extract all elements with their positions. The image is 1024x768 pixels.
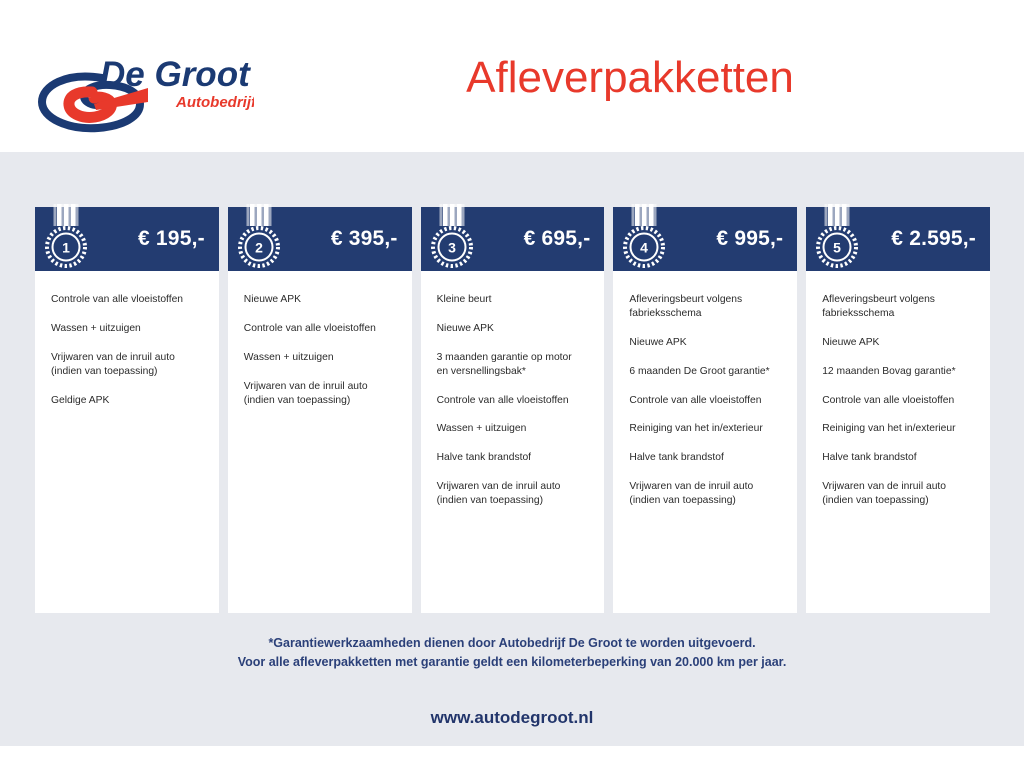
package-price: € 2.595,- (891, 227, 976, 251)
feature-item: Controle van alle vloeistoffen (822, 394, 974, 408)
de-groot-logo-icon: De Groot Autobedrijf (36, 48, 254, 134)
feature-item: Afleveringsbeurt volgensfabrieksschema (629, 293, 781, 321)
feature-item: 6 maanden De Groot garantie* (629, 365, 781, 379)
slide-root: De Groot Autobedrijf Afleverpakketten (0, 0, 1024, 768)
feature-item: Controle van alle vloeistoffen (244, 322, 396, 336)
footnote-line-1: *Garantiewerkzaamheden dienen door Autob… (0, 634, 1024, 653)
header-band: De Groot Autobedrijf Afleverpakketten (0, 0, 1024, 152)
medal-rank-icon: 2 (236, 204, 282, 270)
feature-item: Halve tank brandstof (629, 451, 781, 465)
package-card-header: 3 € 695,- (421, 207, 605, 271)
package-card-header: 1 € 195,- (35, 207, 219, 271)
medal-rank-number: 5 (833, 240, 841, 256)
package-feature-list: Kleine beurt Nieuwe APK 3 maanden garant… (421, 271, 605, 613)
website-url[interactable]: www.autodegroot.nl (0, 708, 1024, 728)
feature-item: 3 maanden garantie op motoren versnellin… (437, 351, 589, 379)
medal-rank-number: 1 (62, 240, 70, 256)
feature-item: Nieuwe APK (822, 336, 974, 350)
medal-rank-number: 3 (448, 240, 456, 256)
medal-rank-number: 4 (640, 240, 648, 256)
feature-item: 12 maanden Bovag garantie* (822, 365, 974, 379)
bottom-white-strip (0, 746, 1024, 768)
feature-item: Vrijwaren van de inruil auto(indien van … (51, 351, 203, 379)
package-card[interactable]: 1 € 195,- Controle van alle vloeistoffen… (35, 207, 219, 613)
svg-text:De Groot: De Groot (100, 55, 251, 94)
feature-item: Wassen + uitzuigen (244, 351, 396, 365)
feature-item: Controle van alle vloeistoffen (51, 293, 203, 307)
medal-rank-icon: 5 (814, 204, 860, 270)
medal-rank-icon: 1 (43, 204, 89, 270)
feature-item: Nieuwe APK (629, 336, 781, 350)
feature-item: Controle van alle vloeistoffen (629, 394, 781, 408)
feature-item: Kleine beurt (437, 293, 589, 307)
feature-item: Afleveringsbeurt volgensfabrieksschema (822, 293, 974, 321)
package-price: € 995,- (716, 227, 783, 251)
feature-item: Vrijwaren van de inruil auto(indien van … (629, 480, 781, 508)
feature-item: Nieuwe APK (437, 322, 589, 336)
package-feature-list: Nieuwe APK Controle van alle vloeistoffe… (228, 271, 412, 613)
package-card[interactable]: 4 € 995,- Afleveringsbeurt volgensfabrie… (613, 207, 797, 613)
medal-rank-icon: 3 (429, 204, 475, 270)
feature-item: Vrijwaren van de inruil auto(indien van … (244, 380, 396, 408)
svg-text:Autobedrijf: Autobedrijf (175, 94, 254, 111)
package-feature-list: Afleveringsbeurt volgensfabrieksschema N… (613, 271, 797, 613)
package-feature-list: Afleveringsbeurt volgensfabrieksschema N… (806, 271, 990, 613)
medal-rank-number: 2 (255, 240, 263, 256)
package-card-list: 1 € 195,- Controle van alle vloeistoffen… (35, 207, 990, 613)
package-card[interactable]: 5 € 2.595,- Afleveringsbeurt volgensfabr… (806, 207, 990, 613)
package-card[interactable]: 2 € 395,- Nieuwe APK Controle van alle v… (228, 207, 412, 613)
feature-item: Halve tank brandstof (822, 451, 974, 465)
feature-item: Vrijwaren van de inruil auto(indien van … (437, 480, 589, 508)
package-feature-list: Controle van alle vloeistoffen Wassen + … (35, 271, 219, 613)
feature-item: Reiniging van het in/exterieur (822, 422, 974, 436)
package-price: € 695,- (524, 227, 591, 251)
feature-item: Wassen + uitzuigen (437, 422, 589, 436)
feature-item: Vrijwaren van de inruil auto(indien van … (822, 480, 974, 508)
feature-item: Reiniging van het in/exterieur (629, 422, 781, 436)
feature-item: Geldige APK (51, 394, 203, 408)
feature-item: Controle van alle vloeistoffen (437, 394, 589, 408)
package-price: € 195,- (138, 227, 205, 251)
package-card-header: 5 € 2.595,- (806, 207, 990, 271)
feature-item: Nieuwe APK (244, 293, 396, 307)
medal-rank-icon: 4 (621, 204, 667, 270)
page-title: Afleverpakketten (330, 54, 930, 102)
feature-item: Wassen + uitzuigen (51, 322, 203, 336)
package-price: € 395,- (331, 227, 398, 251)
package-card-header: 2 € 395,- (228, 207, 412, 271)
footnote: *Garantiewerkzaamheden dienen door Autob… (0, 634, 1024, 673)
company-logo: De Groot Autobedrijf (36, 48, 254, 134)
footnote-line-2: Voor alle afleverpakketten met garantie … (0, 653, 1024, 672)
feature-item: Halve tank brandstof (437, 451, 589, 465)
package-card[interactable]: 3 € 695,- Kleine beurt Nieuwe APK 3 maan… (421, 207, 605, 613)
package-card-header: 4 € 995,- (613, 207, 797, 271)
